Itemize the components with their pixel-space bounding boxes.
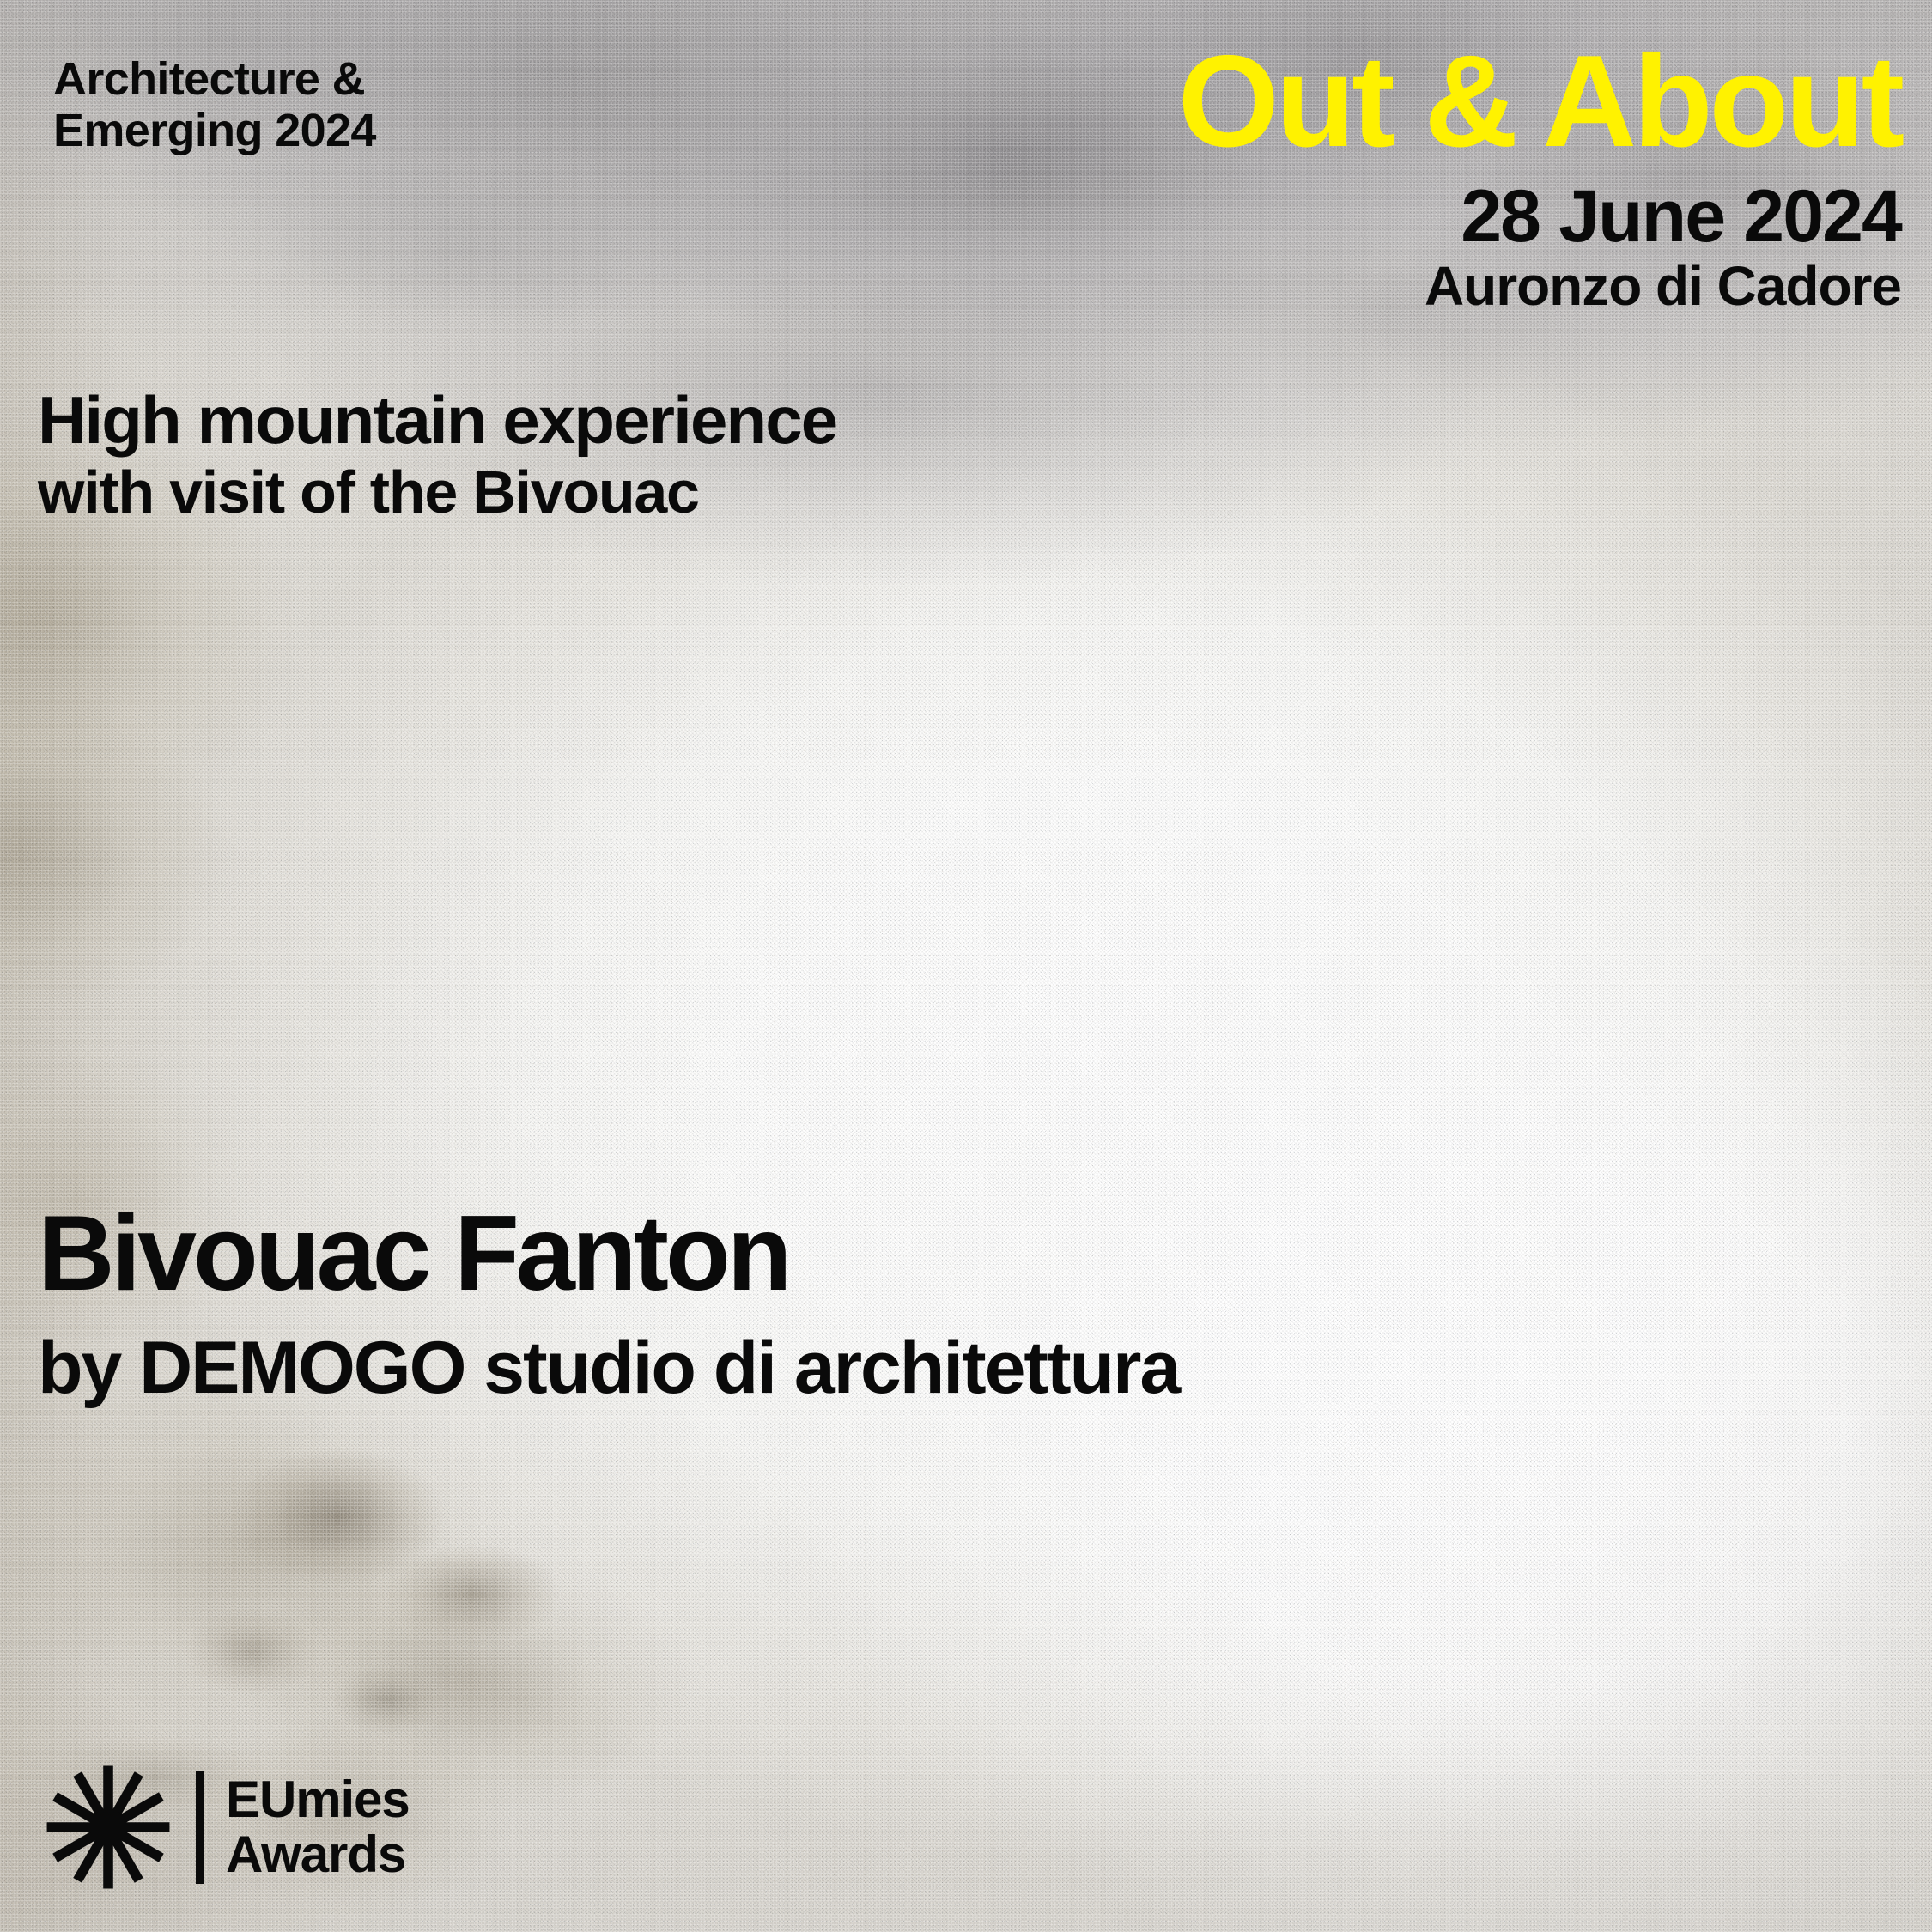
logo-wordmark-line-1: EUmies — [226, 1772, 410, 1827]
activity-block: High mountain experience with visit of t… — [38, 386, 836, 523]
programme-kicker-line-1: Architecture & — [53, 53, 376, 105]
event-location: Auronzo di Cadore — [1178, 258, 1901, 314]
event-info-block: Out & About 28 June 2024 Auronzo di Cado… — [1178, 41, 1901, 315]
programme-kicker: Architecture & Emerging 2024 — [53, 53, 376, 156]
activity-subtitle: with visit of the Bivouac — [38, 462, 836, 523]
poster-content: Architecture & Emerging 2024 Out & About… — [0, 0, 1932, 1932]
logo-wordmark: EUmies Awards — [226, 1772, 410, 1882]
event-date: 28 June 2024 — [1178, 179, 1901, 253]
logo-wordmark-line-2: Awards — [226, 1827, 410, 1882]
project-block: Bivouac Fanton by DEMOGO studio di archi… — [38, 1202, 1179, 1405]
activity-title: High mountain experience — [38, 386, 836, 453]
event-name: Out & About — [1178, 41, 1901, 162]
poster-canvas: Architecture & Emerging 2024 Out & About… — [0, 0, 1932, 1932]
eumies-awards-logo: EUmies Awards — [43, 1762, 410, 1893]
logo-divider-rule — [196, 1771, 204, 1884]
project-title: Bivouac Fanton — [38, 1202, 1179, 1307]
project-author: by DEMOGO studio di architettura — [38, 1331, 1179, 1405]
programme-kicker-line-2: Emerging 2024 — [53, 105, 376, 156]
asterisk-starburst-icon — [43, 1762, 173, 1893]
